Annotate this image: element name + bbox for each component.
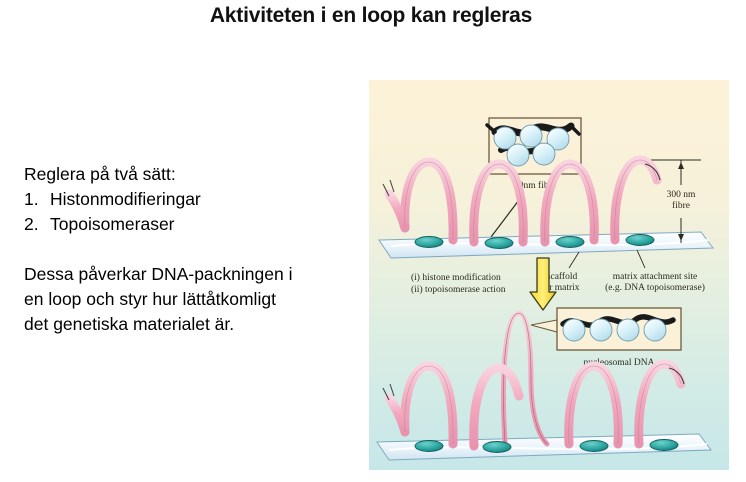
paragraph-line: Dessa påverkar DNA-packningen i (24, 262, 342, 287)
attachment-site (626, 235, 654, 246)
nucleosome-bead (563, 319, 585, 341)
page-title: Aktiviteten i en loop kan regleras (0, 4, 746, 28)
transition-step-2: (ii) topoisomerase action (411, 284, 506, 295)
transition-step-1: (i) histone modification (411, 272, 501, 283)
body-paragraph: Dessa påverkar DNA-packningen i en loop … (24, 262, 342, 337)
list-item: 2. Topoisomeraser (24, 212, 342, 237)
list-item-number: 1. (24, 187, 50, 212)
list-item-number: 2. (24, 212, 50, 237)
attachment-site (556, 237, 584, 248)
nucleosome-bead (590, 319, 612, 341)
attachment-site (650, 440, 678, 451)
nucleosome-bead (520, 125, 542, 147)
inset-nucleosomal-dna (557, 308, 681, 350)
nucleosome-bead (617, 319, 639, 341)
nucleosome-bead (533, 143, 555, 165)
scaffold-label-line1: scaffold (547, 271, 578, 282)
nucleosome-bead (644, 319, 666, 341)
attachment-site (415, 237, 443, 248)
numbered-list: 1. Histonmodifieringar 2. Topoisomeraser (24, 187, 342, 237)
attachment-site (580, 441, 608, 452)
scale-label-line1: 300 nm (667, 190, 696, 200)
attachment-label-line2: (e.g. DNA topoisomerase) (605, 282, 705, 293)
list-item-label: Topoisomeraser (50, 212, 175, 237)
slide-body-text: Reglera på två sätt: 1. Histonmodifierin… (24, 162, 342, 337)
list-item: 1. Histonmodifieringar (24, 187, 342, 212)
scale-label-line2: fibre (672, 200, 690, 211)
page-title-text: Aktiviteten i en loop kan regleras (210, 4, 532, 28)
attachment-site (485, 238, 513, 249)
attachment-site (483, 442, 511, 453)
paragraph-line: en loop och styr hur lättåtkomligt (24, 287, 342, 312)
lead-line: Reglera på två sätt: (24, 162, 342, 187)
attachment-label-line1: matrix attachment site (613, 272, 697, 282)
chromatin-loop-figure: 30nm fibre 300 nm fibre (369, 80, 729, 470)
attachment-site (415, 441, 443, 452)
paragraph-line: det genetiska materialet är. (24, 312, 342, 337)
nucleosome-bead (507, 144, 529, 166)
list-item-label: Histonmodifieringar (50, 187, 201, 212)
